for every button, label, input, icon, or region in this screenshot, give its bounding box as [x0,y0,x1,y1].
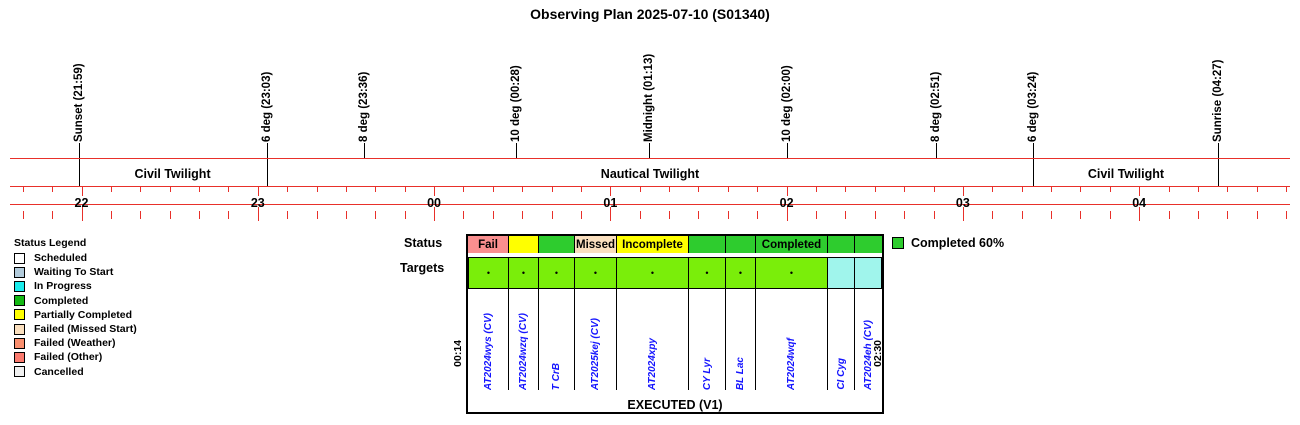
target-name-cell-1: AT2024wzq (CV) [509,289,539,390]
status-segment-6[interactable] [726,236,756,253]
target-name-5: CY Lyr [702,356,713,390]
legend-item-2: In Progress [10,279,200,293]
axis-minor-tick [23,187,24,192]
legend-label-2: In Progress [34,280,92,292]
legend-item-1: Waiting To Start [10,265,200,279]
axis-minor-tick [170,187,171,192]
event-label-5: 10 deg (02:00) [778,42,796,142]
target-name-cell-5: CY Lyr [689,289,726,390]
legend-item-8: Cancelled [10,365,200,379]
axis-minor-tick [816,187,817,192]
legend-item-3: Completed [10,294,200,308]
legend-label-3: Completed [34,295,88,307]
axis-minor-tick [1022,187,1023,192]
axis-minor-tick [1022,211,1023,219]
targets-row-label: Targets [400,261,444,275]
target-cell-1[interactable]: • [509,257,539,289]
event-tick-5 [787,143,788,159]
twilight-boundary [1218,159,1219,186]
twilight-band-label-1: Nautical Twilight [267,167,1034,181]
schedule-end-time: 02:30 [872,340,884,367]
axis-minor-tick [493,211,494,219]
axis-minor-tick [728,187,729,192]
axis-minor-tick [522,211,523,219]
axis-minor-tick [581,187,582,192]
event-tick-2 [364,143,365,159]
axis-minor-tick [1198,211,1199,219]
axis-minor-tick [581,211,582,219]
legend-label-1: Waiting To Start [34,266,113,278]
legend-label-0: Scheduled [34,252,87,264]
axis-minor-tick [1110,187,1111,192]
axis-minor-tick [934,211,935,219]
axis-minor-tick [317,211,318,219]
twilight-boundary [267,159,268,186]
axis-minor-tick [816,211,817,219]
legend-label-5: Failed (Missed Start) [34,323,137,335]
target-name-0: AT2024wys (CV) [483,311,494,390]
axis-minor-tick [1080,187,1081,192]
axis-minor-tick [1169,211,1170,219]
axis-minor-tick [1257,187,1258,192]
legend-swatch-7 [14,352,25,363]
target-name-cell-2: T CrB [539,289,575,390]
axis-minor-tick [258,187,259,196]
axis-minor-tick [698,211,699,219]
axis-hour-label-4: 02 [767,196,807,210]
axis-minor-tick [405,211,406,219]
target-name-cell-7: AT2024wqf [756,289,828,390]
axis-minor-tick [1051,187,1052,192]
axis-minor-tick [875,211,876,219]
event-label-3: 10 deg (00:28) [507,42,525,142]
legend-item-7: Failed (Other) [10,350,200,364]
axis-minor-tick [228,211,229,219]
legend-item-5: Failed (Missed Start) [10,322,200,336]
event-label-6: 8 deg (02:51) [927,42,945,142]
status-legend-title: Status Legend [14,237,200,249]
axis-hour-label-2: 00 [414,196,454,210]
event-tick-0 [79,143,80,159]
axis-minor-tick [1257,211,1258,219]
axis-minor-tick [875,187,876,192]
axis-minor-tick [640,211,641,219]
axis-rule-0 [10,158,1290,159]
axis-minor-tick [1110,211,1111,219]
axis-minor-tick [1169,187,1170,192]
target-name-7: AT2024wqf [786,336,797,390]
status-segment-0[interactable]: Fail [468,236,509,253]
page-title: Observing Plan 2025-07-10 (S01340) [0,6,1300,22]
axis-minor-tick [992,211,993,219]
axis-minor-tick [904,187,905,192]
axis-hour-label-3: 01 [590,196,630,210]
axis-minor-tick [82,187,83,196]
event-label-4: Midnight (01:13) [640,42,658,142]
axis-minor-tick [140,187,141,192]
axis-minor-tick [845,187,846,192]
twilight-boundary [79,159,80,186]
target-names-row: AT2024wys (CV)AT2024wzq (CV)T CrBAT2025k… [468,289,882,390]
axis-minor-tick [728,211,729,219]
axis-minor-tick [1080,211,1081,219]
completion-indicator: Completed 60% [892,236,1004,250]
target-cell-9[interactable] [855,257,882,289]
status-row-label: Status [404,236,442,250]
legend-label-8: Cancelled [34,366,84,378]
axis-minor-tick [610,187,611,196]
axis-minor-tick [199,211,200,219]
legend-swatch-0 [14,253,25,264]
target-cell-8[interactable] [828,257,855,289]
axis-minor-tick [1286,187,1287,192]
axis-minor-tick [199,187,200,192]
axis-minor-tick [757,211,758,219]
target-name-cell-8: CI Cyg [828,289,855,390]
axis-minor-tick [552,187,553,192]
target-name-cell-3: AT2025kej (CV) [575,289,617,390]
legend-swatch-8 [14,366,25,377]
schedule-start-time: 00:14 [452,340,464,367]
legend-swatch-5 [14,324,25,335]
target-cell-3[interactable]: • [575,257,617,289]
axis-minor-tick [934,187,935,192]
event-tick-8 [1218,143,1219,159]
target-cell-0[interactable]: • [468,257,509,289]
targets-bar[interactable]: •••••••• [468,257,882,289]
target-cell-2[interactable]: • [539,257,575,289]
status-segment-4[interactable]: Incomplete [617,236,689,253]
axis-minor-tick [1198,187,1199,192]
twilight-boundary [1033,159,1034,186]
axis-minor-tick [845,211,846,219]
axis-minor-tick [787,187,788,196]
axis-minor-tick [52,187,53,192]
legend-label-4: Partially Completed [34,309,132,321]
status-segment-7[interactable]: Completed [756,236,828,253]
axis-minor-tick [1227,211,1228,219]
twilight-band-label-2: Civil Twilight [1033,167,1218,181]
target-cell-6[interactable]: • [726,257,756,289]
legend-swatch-6 [14,338,25,349]
status-segment-1[interactable] [509,236,539,253]
target-name-6: BL Lac [735,355,746,390]
legend-item-4: Partially Completed [10,308,200,322]
target-cell-7[interactable]: • [756,257,828,289]
axis-minor-tick [317,187,318,192]
event-tick-4 [649,143,650,159]
schedule-block: FailMissedIncompleteCompleted •••••••• A… [466,234,884,414]
axis-minor-tick [170,211,171,219]
axis-hour-label-6: 04 [1119,196,1159,210]
axis-minor-tick [463,211,464,219]
legend-label-6: Failed (Weather) [34,337,116,349]
target-name-cell-6: BL Lac [726,289,756,390]
axis-minor-tick [1286,211,1287,219]
axis-minor-tick [493,187,494,192]
axis-minor-tick [640,187,641,192]
axis-minor-tick [23,211,24,219]
event-label-8: Sunrise (04:27) [1209,42,1227,142]
target-name-4: AT2024xpy [647,336,658,390]
axis-minor-tick [1139,187,1140,196]
axis-minor-tick [140,211,141,219]
axis-hour-label-0: 22 [62,196,102,210]
legend-swatch-3 [14,295,25,306]
event-tick-7 [1033,143,1034,159]
status-legend: Status Legend ScheduledWaiting To StartI… [10,237,200,379]
axis-minor-tick [1227,187,1228,192]
axis-minor-tick [287,187,288,192]
axis-minor-tick [669,187,670,192]
target-name-cell-0: AT2024wys (CV) [468,289,509,390]
axis-minor-tick [346,211,347,219]
axis-minor-tick [52,211,53,219]
axis-minor-tick [111,187,112,192]
target-cell-4[interactable]: • [617,257,689,289]
target-name-8: CI Cyg [836,356,847,390]
axis-minor-tick [434,187,435,196]
axis-minor-tick [375,187,376,192]
axis-rule-2 [10,204,1290,205]
event-tick-6 [936,143,937,159]
legend-label-7: Failed (Other) [34,351,102,363]
event-tick-1 [267,143,268,159]
axis-minor-tick [963,187,964,196]
schedule-footer-label: EXECUTED (V1) [466,398,884,412]
legend-item-0: Scheduled [10,251,200,265]
axis-minor-tick [669,211,670,219]
axis-minor-tick [111,211,112,219]
event-label-0: Sunset (21:59) [70,42,88,142]
axis-minor-tick [346,187,347,192]
legend-swatch-1 [14,267,25,278]
legend-item-6: Failed (Weather) [10,336,200,350]
axis-hour-label-1: 23 [238,196,278,210]
status-segment-5[interactable] [689,236,726,253]
event-tick-3 [516,143,517,159]
axis-minor-tick [1051,211,1052,219]
status-segment-9[interactable] [855,236,882,253]
status-segment-3[interactable]: Missed [575,236,617,253]
twilight-band-label-0: Civil Twilight [79,167,267,181]
axis-minor-tick [904,211,905,219]
target-name-cell-4: AT2024xpy [617,289,689,390]
target-name-2: T CrB [551,361,562,390]
status-segment-2[interactable] [539,236,575,253]
axis-minor-tick [757,187,758,192]
axis-minor-tick [228,187,229,192]
status-segment-8[interactable] [828,236,855,253]
axis-minor-tick [552,211,553,219]
legend-swatch-4 [14,309,25,320]
axis-minor-tick [287,211,288,219]
status-legend-items: ScheduledWaiting To StartIn ProgressComp… [10,251,200,379]
axis-minor-tick [375,211,376,219]
legend-swatch-2 [14,281,25,292]
axis-minor-tick [463,187,464,192]
status-bar[interactable]: FailMissedIncompleteCompleted [468,236,882,253]
event-label-7: 6 deg (03:24) [1024,42,1042,142]
event-label-1: 6 deg (23:03) [258,42,276,142]
axis-rule-1 [10,186,1290,187]
target-cell-5[interactable]: • [689,257,726,289]
axis-minor-tick [992,187,993,192]
event-label-2: 8 deg (23:36) [355,42,373,142]
axis-minor-tick [405,187,406,192]
axis-minor-tick [698,187,699,192]
target-name-1: AT2024wzq (CV) [518,311,529,390]
completion-swatch [892,237,904,249]
completion-text: Completed 60% [911,236,1004,250]
axis-hour-label-5: 03 [943,196,983,210]
axis-minor-tick [522,187,523,192]
target-name-3: AT2025kej (CV) [590,316,601,390]
